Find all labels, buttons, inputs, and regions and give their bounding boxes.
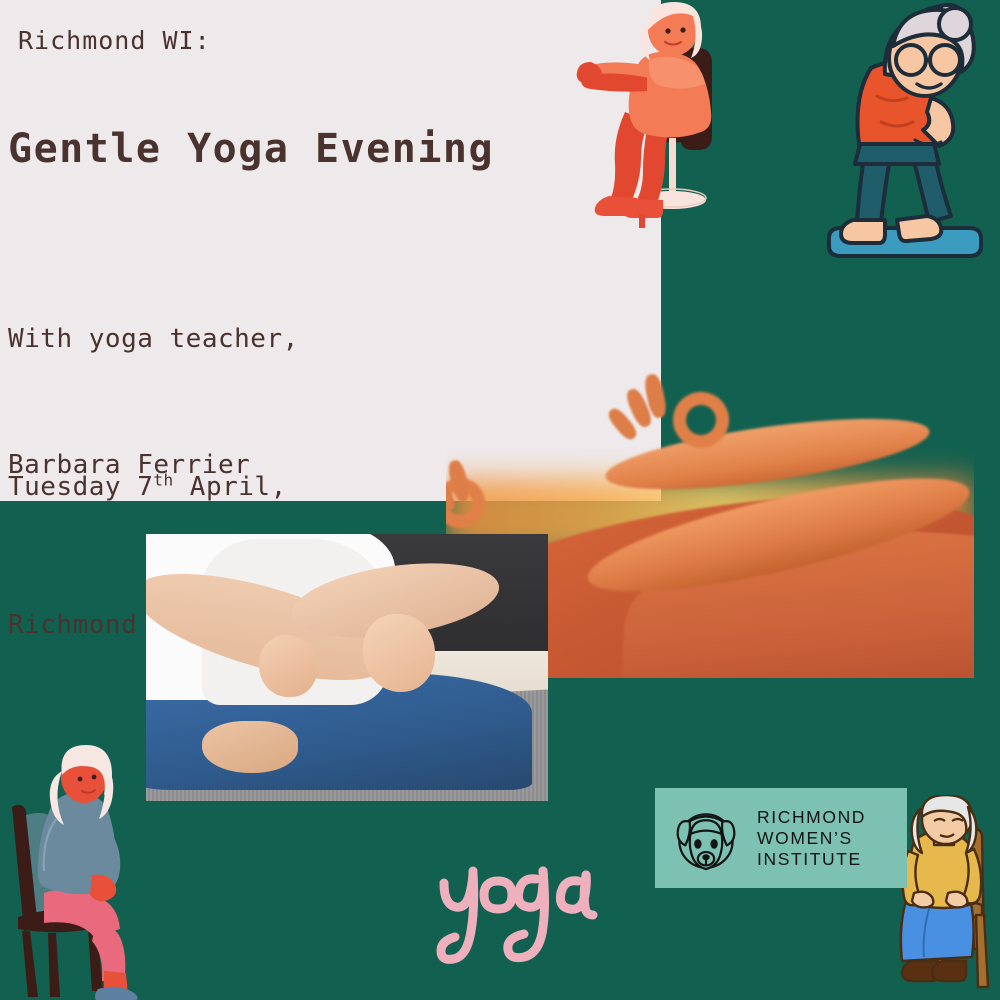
logo-line-3: INSTITUTE bbox=[757, 849, 866, 870]
richmond-womens-institute-logo: RICHMOND WOMEN’S INSTITUTE bbox=[655, 788, 907, 888]
side-stretch-senior-svg bbox=[815, 0, 995, 262]
bare-foot-shape bbox=[202, 721, 298, 773]
date-month-text: April, bbox=[174, 472, 287, 502]
yoga-script-wordmark bbox=[432, 855, 602, 965]
event-date: Tuesday 7th April, bbox=[8, 464, 363, 510]
organisation-kicker: Richmond WI: bbox=[18, 26, 211, 55]
logo-wordmark: RICHMOND WOMEN’S INSTITUTE bbox=[757, 807, 866, 870]
right-hand-shape bbox=[363, 614, 435, 692]
side-stretch-senior-illustration bbox=[815, 0, 995, 262]
yoga-script-svg bbox=[432, 855, 602, 965]
teacher-line-1: With yoga teacher, bbox=[8, 318, 299, 360]
date-day-text: Tuesday 7 bbox=[8, 472, 153, 502]
seated-woman-blue-top-svg bbox=[0, 745, 170, 1000]
chair-yoga-woman-illustration bbox=[565, 0, 755, 232]
logo-line-1: RICHMOND bbox=[757, 807, 866, 828]
lotus-pose-on-mat-photo bbox=[146, 534, 548, 801]
chair-yoga-woman-svg bbox=[565, 0, 755, 232]
page-title: Gentle Yoga Evening bbox=[8, 126, 494, 172]
logo-line-2: WOMEN’S bbox=[757, 828, 866, 849]
seated-woman-blue-top-illustration bbox=[0, 745, 170, 1000]
poster-canvas: Richmond WI: Gentle Yoga Evening With yo… bbox=[0, 0, 1000, 1000]
deer-head-icon bbox=[669, 801, 743, 875]
left-hand-shape bbox=[259, 635, 317, 697]
date-ordinal-suffix: th bbox=[153, 470, 173, 489]
